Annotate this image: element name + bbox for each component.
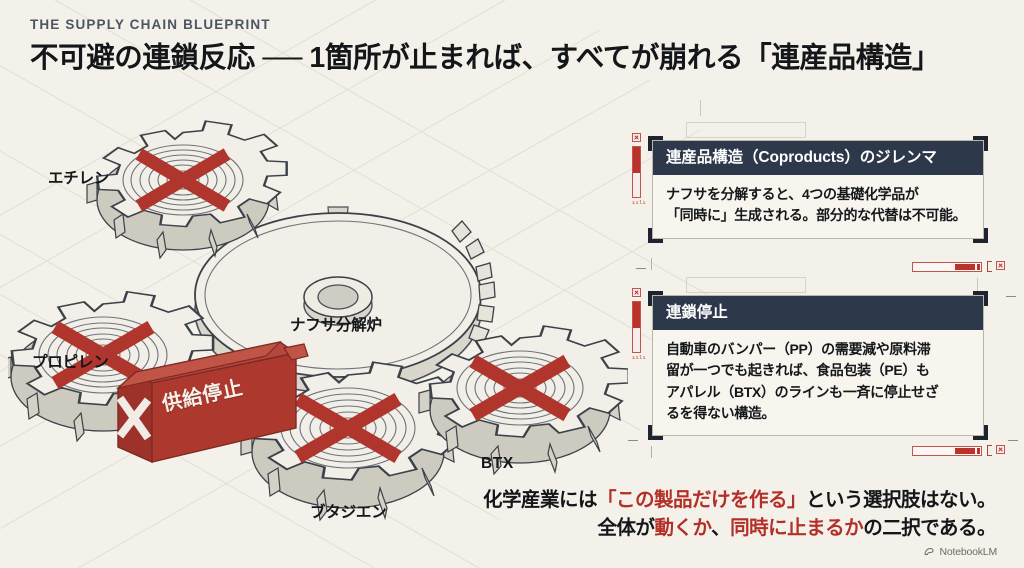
tick-mark-1: [636, 268, 646, 269]
ghost-frame-top-1: [686, 122, 806, 138]
tick-mark-6: [651, 446, 652, 458]
conclusion-2-highlight-2: 同時に止まるか: [730, 517, 863, 539]
corner-bracket-tr: [973, 136, 988, 151]
close-x-icon[interactable]: [996, 445, 1005, 454]
info-panel-coproducts: 連産品構造（Coproducts）のジレンマ ナフサを分解すると、4つの基礎化学…: [652, 140, 984, 239]
conclusion-1b: という選択肢はない。: [806, 489, 996, 511]
notebooklm-icon: [923, 546, 935, 558]
corner-bracket-tr: [973, 291, 988, 306]
horizontal-progress-1[interactable]: [912, 262, 982, 272]
close-x-icon[interactable]: [632, 288, 641, 297]
tick-mark-5: [1008, 440, 1018, 441]
ghost-frame-top-2: [686, 277, 806, 293]
gear-label-cracker: ナフサ分解炉: [290, 313, 382, 335]
conclusion-2a: 全体が: [598, 517, 655, 539]
corner-bracket-bl: [648, 425, 663, 440]
vertical-progress-1[interactable]: [632, 146, 641, 198]
panel-body-line: アパレル（BTX）のラインも一斉に停止せざ: [666, 382, 970, 403]
panel-body-line: 「同時に」生成される。部分的な代替は不可能。: [666, 205, 970, 226]
panel-body: 自動車のバンパー（PP）の需要減や原料滞 留が一つでも起きれば、食品包装（PE）…: [653, 330, 983, 435]
conclusion-line-2: 全体が動くか、同時に止まるかの二択である。: [483, 515, 996, 543]
horizontal-progress-2[interactable]: [912, 446, 982, 456]
close-x-icon[interactable]: [996, 261, 1005, 270]
panel-title: 連鎖停止: [653, 296, 983, 330]
panel-body-line: 自動車のバンパー（PP）の需要減や原料滞: [666, 339, 970, 360]
corner-bracket-bl: [648, 228, 663, 243]
status-square-1: [632, 133, 641, 142]
conclusion-1a: 化学産業には: [483, 489, 597, 511]
info-panel-chain-stop: 連鎖停止 自動車のバンパー（PP）の需要減や原料滞 留が一つでも起きれば、食品包…: [652, 295, 984, 436]
panel-body-line: ナフサを分解すると、4つの基礎化学品が: [666, 184, 970, 205]
corner-bracket-tl: [648, 136, 663, 151]
page-header: THE SUPPLY CHAIN BLUEPRINT 不可避の連鎖反応 ── 1…: [30, 18, 940, 74]
status-square-2: [996, 261, 1005, 270]
conclusion-text: 化学産業には「この製品だけを作る」という選択肢はない。 全体が動くか、同時に止ま…: [483, 487, 996, 542]
gear-label-ethylene: エチレン: [48, 166, 109, 188]
status-square-3: [632, 288, 641, 297]
corner-bracket-br: [973, 228, 988, 243]
panel-body-line: 留が一つでも起きれば、食品包装（PE）も: [666, 360, 970, 381]
panel-body-line: るを得ない構造。: [666, 403, 970, 424]
close-x-icon[interactable]: [632, 133, 641, 142]
notebooklm-watermark: NotebookLM: [923, 546, 997, 558]
bracket-mark-1: [987, 261, 992, 272]
corner-bracket-br: [973, 425, 988, 440]
hairline-mark-1: [700, 100, 701, 116]
gear-label-btx: BTX: [481, 455, 514, 473]
eyebrow-text: THE SUPPLY CHAIN BLUEPRINT: [30, 18, 940, 32]
hairline-mark-2: [977, 278, 978, 292]
conclusion-2b: 、: [711, 517, 730, 539]
gear-label-propylene: プロピレン: [32, 350, 109, 372]
gear-label-butadiene: ブタジエン: [310, 500, 387, 522]
meter-caption-1: ıılı: [632, 201, 646, 206]
conclusion-2c: の二択である。: [863, 517, 996, 539]
panel-body: ナフサを分解すると、4つの基礎化学品が 「同時に」生成される。部分的な代替は不可…: [653, 175, 983, 238]
corner-bracket-tl: [648, 291, 663, 306]
panel-title: 連産品構造（Coproducts）のジレンマ: [653, 141, 983, 175]
page-title: 不可避の連鎖反応 ── 1箇所が止まれば、すべてが崩れる「連産品構造」: [30, 43, 940, 75]
tick-mark-2: [651, 258, 652, 270]
tick-mark-3: [1006, 296, 1016, 297]
watermark-label: NotebookLM: [939, 546, 997, 558]
vertical-progress-2[interactable]: [632, 301, 641, 353]
bracket-mark-2: [987, 445, 992, 456]
conclusion-line-1: 化学産業には「この製品だけを作る」という選択肢はない。: [483, 487, 996, 515]
conclusion-1-highlight: 「この製品だけを作る」: [597, 489, 806, 511]
tick-mark-4: [628, 440, 638, 441]
conclusion-2-highlight-1: 動くか: [655, 517, 712, 539]
meter-caption-2: ıılı: [632, 356, 646, 361]
status-square-4: [996, 445, 1005, 454]
